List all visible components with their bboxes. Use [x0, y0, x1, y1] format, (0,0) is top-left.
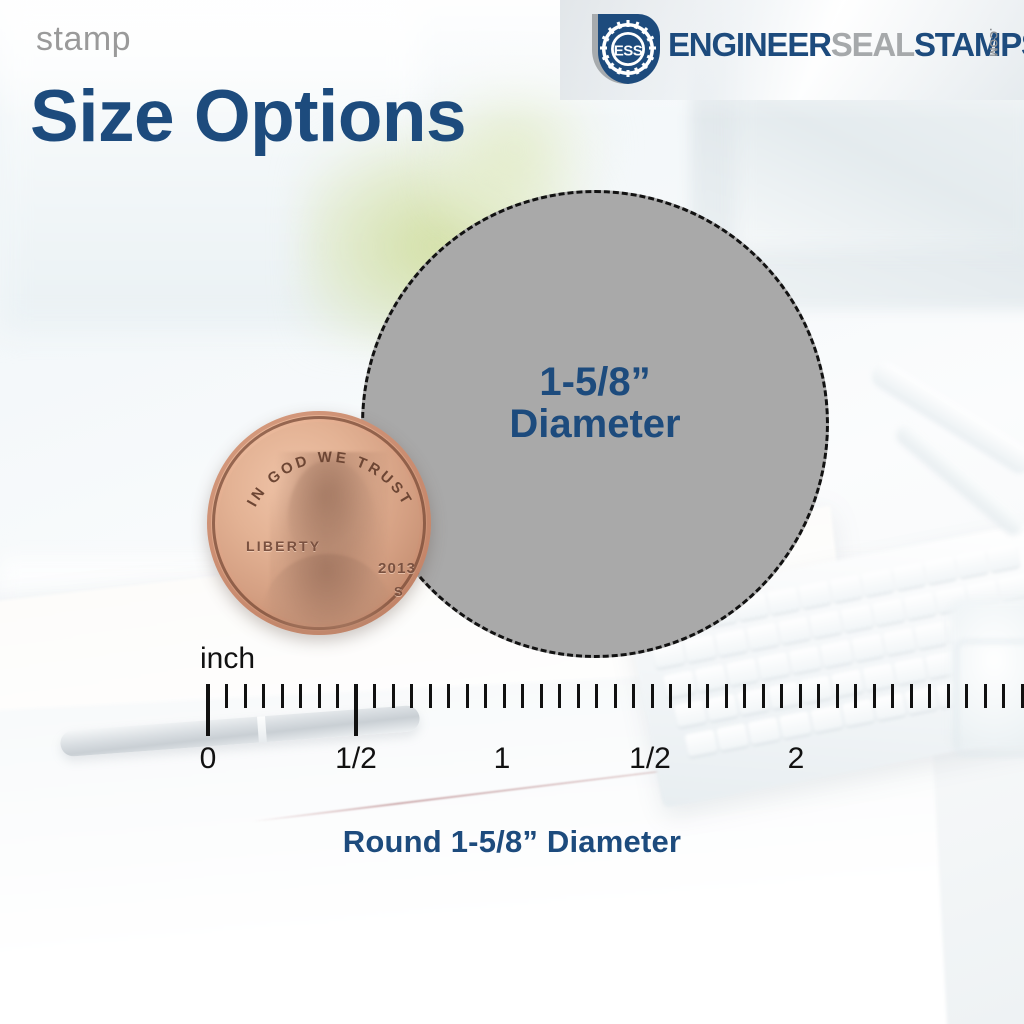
ruler-tick-minor [669, 684, 672, 708]
brand-logo[interactable]: ESS ENGINEERSEALSTAMPS .COM [586, 10, 1014, 86]
ess-shield-icon: ESS [586, 10, 662, 86]
background-keyboard-key [892, 562, 926, 590]
svg-text:IN GOD WE TRUST: IN GOD WE TRUST [244, 449, 416, 510]
brand-tld: .COM [987, 28, 998, 57]
penny-face: IN GOD WE TRUST LIBERTY 2013 S [218, 422, 420, 624]
ruler-tick-minor [632, 684, 635, 708]
ruler-tick-minor [447, 684, 450, 708]
ruler-tick-minor [984, 684, 987, 708]
stamp-size-label: 1-5/8” Diameter [364, 361, 826, 446]
ruler-tick-minor [688, 684, 691, 708]
ruler-tick-minor [318, 684, 321, 708]
ruler-tick-minor [429, 684, 432, 708]
ruler-tick-minor [262, 684, 265, 708]
brand-word-stamps: STAMPS [914, 26, 1024, 63]
ruler-tick-minor [410, 684, 413, 708]
page-title: Size Options [30, 80, 466, 153]
stamp-shape-circle: 1-5/8” Diameter [361, 190, 829, 658]
ruler-tick-minor [651, 684, 654, 708]
ruler-tick-minor [521, 684, 524, 708]
ruler-label: 1/2 [629, 744, 671, 774]
ruler-tick-minor [873, 684, 876, 708]
ruler-tick-minor [910, 684, 913, 708]
ruler-tick-minor [336, 684, 339, 708]
ruler-tick-minor [780, 684, 783, 708]
ruler-tick-minor [743, 684, 746, 708]
penny-mint-mark: S [394, 584, 403, 599]
background-keyboard-key [840, 604, 874, 632]
inch-ruler: inch 01/211/22 [0, 640, 1024, 810]
svg-text:ESS: ESS [614, 43, 643, 60]
ruler-label: 2 [788, 744, 805, 774]
ruler-tick-minor [577, 684, 580, 708]
ruler-tick-minor [762, 684, 765, 708]
background-keyboard-key [861, 569, 895, 597]
background-keyboard-key [809, 610, 843, 638]
ruler-tick-minor [1021, 684, 1024, 708]
ruler-tick-minor [484, 684, 487, 708]
brand-word-engineer: ENGINEER [668, 26, 831, 63]
ruler-tick-minor [225, 684, 228, 708]
background-keyboard-key [955, 550, 989, 578]
ruler-tick-minor [595, 684, 598, 708]
penny-liberty: LIBERTY [246, 538, 321, 554]
ruler-tick-minor [558, 684, 561, 708]
ruler-tick-minor [466, 684, 469, 708]
ruler-tick-minor [854, 684, 857, 708]
penny-year: 2013 [378, 560, 416, 577]
ruler-tick-minor [299, 684, 302, 708]
ruler-tick-major [206, 684, 210, 736]
ruler-tick-minor [725, 684, 728, 708]
ruler-tick-minor [244, 684, 247, 708]
ruler-tick-minor [503, 684, 506, 708]
ruler-tick-minor [614, 684, 617, 708]
shape-caption: Round 1-5/8” Diameter [0, 824, 1024, 860]
penny-motto: IN GOD WE TRUST [218, 422, 431, 635]
penny-reference-coin: IN GOD WE TRUST LIBERTY 2013 S [207, 411, 431, 635]
stamp-size-value: 1-5/8” [364, 361, 826, 403]
ruler-tick-minor [965, 684, 968, 708]
background-keyboard-key [903, 592, 937, 620]
page-eyebrow: stamp [36, 22, 131, 56]
ruler-tick-minor [281, 684, 284, 708]
ruler-tick-minor [928, 684, 931, 708]
ruler-tick-minor [706, 684, 709, 708]
ruler-label: 1/2 [335, 744, 377, 774]
ruler-tick-minor [799, 684, 802, 708]
brand-word-seal: SEAL [831, 26, 914, 63]
brand-wordmark: ENGINEERSEALSTAMPS [668, 28, 1024, 61]
background-keyboard-key [924, 556, 958, 584]
ruler-tick-major [354, 684, 358, 736]
ruler-tick-minor [1002, 684, 1005, 708]
background-keyboard-key [767, 587, 801, 615]
ruler-tick-minor [836, 684, 839, 708]
ruler-tick-minor [891, 684, 894, 708]
background-keyboard-key [798, 581, 832, 609]
ruler-tick-minor [540, 684, 543, 708]
size-options-infographic: stamp Size Options [0, 0, 1024, 1024]
ruler-tick-minor [392, 684, 395, 708]
ruler-label: 0 [200, 744, 217, 774]
stamp-size-unit: Diameter [364, 403, 826, 445]
ruler-label: 1 [494, 744, 511, 774]
ruler-tick-minor [817, 684, 820, 708]
background-keyboard-key [872, 598, 906, 626]
ruler-tick-minor [373, 684, 376, 708]
ruler-unit-label: inch [200, 644, 255, 674]
background-keyboard-key [829, 575, 863, 603]
ruler-tick-minor [947, 684, 950, 708]
background-keyboard-key [987, 544, 1021, 572]
background-keyboard-key [997, 574, 1024, 602]
